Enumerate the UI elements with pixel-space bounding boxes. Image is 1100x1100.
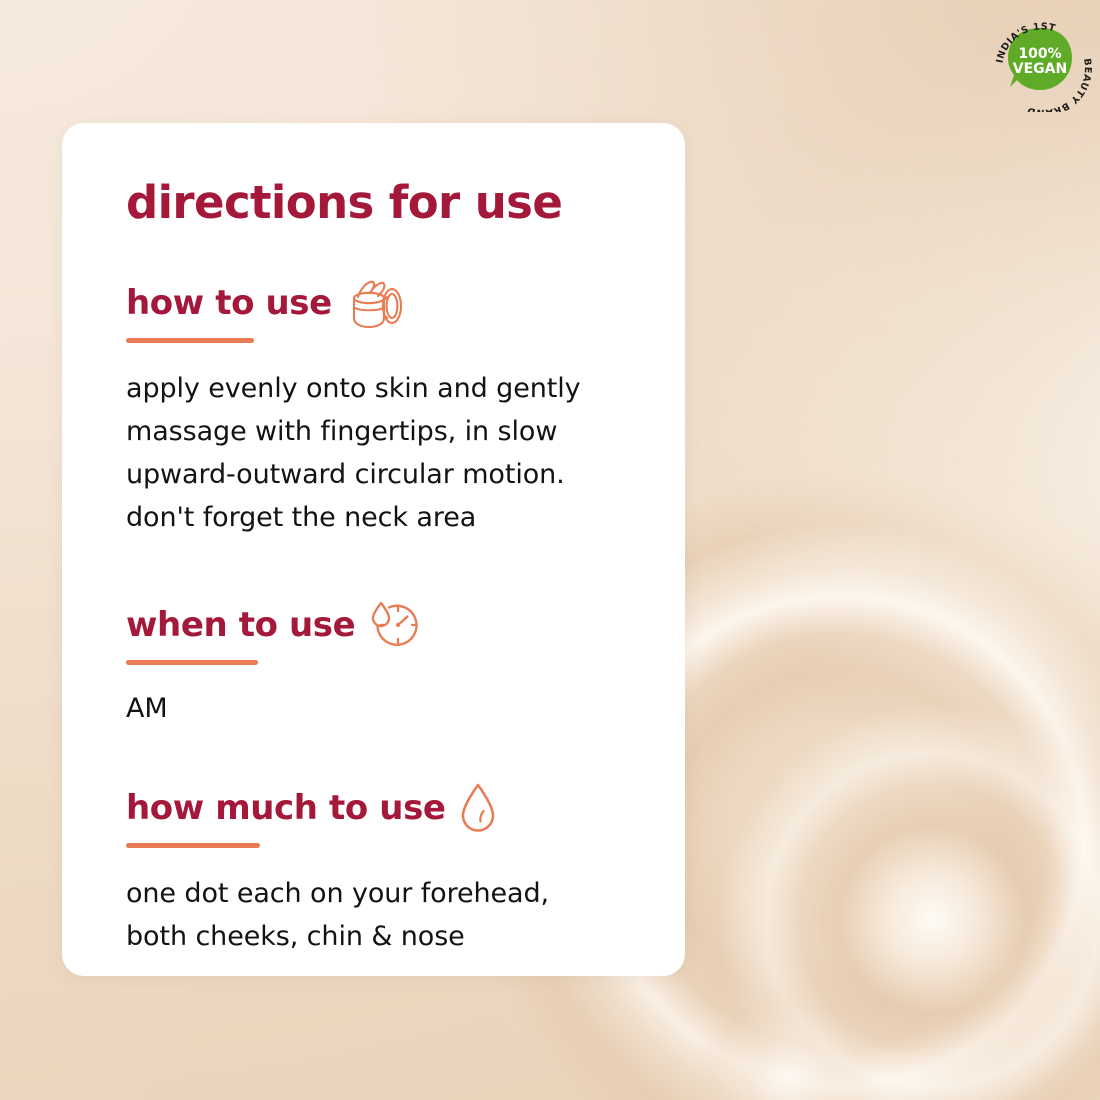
section-heading-label: how to use (126, 286, 332, 320)
directions-card: directions for use how to use (62, 123, 685, 976)
section-header: when to use (126, 603, 685, 647)
section-how-much-to-use: how much to use one dot each on your for… (126, 786, 685, 958)
section-body-text: AM (126, 687, 685, 730)
badge-percent-text: 100% (1018, 46, 1061, 62)
droplet-timer-icon (365, 597, 423, 653)
section-heading-label: how much to use (126, 791, 446, 825)
droplet-icon (456, 779, 500, 837)
section-when-to-use: when to use (126, 603, 685, 730)
section-body-text: apply evenly onto skin and gently massag… (126, 367, 685, 539)
badge-vegan-text: VEGAN (1013, 61, 1067, 77)
page-title: directions for use (126, 180, 685, 225)
section-heading-label: when to use (126, 608, 355, 642)
section-body-text: one dot each on your forehead, both chee… (126, 872, 685, 958)
section-header: how much to use (126, 786, 685, 830)
section-underline (126, 843, 260, 848)
section-underline (126, 338, 254, 343)
section-header: how to use (126, 281, 685, 325)
section-underline (126, 660, 258, 665)
cream-jar-icon (342, 274, 404, 332)
vegan-badge: 100% VEGAN INDIA'S 1ST BEAUTY BRAND (988, 8, 1092, 112)
poster-canvas: 100% VEGAN INDIA'S 1ST BEAUTY BRAND dire… (0, 0, 1100, 1100)
section-how-to-use: how to use (126, 281, 685, 539)
